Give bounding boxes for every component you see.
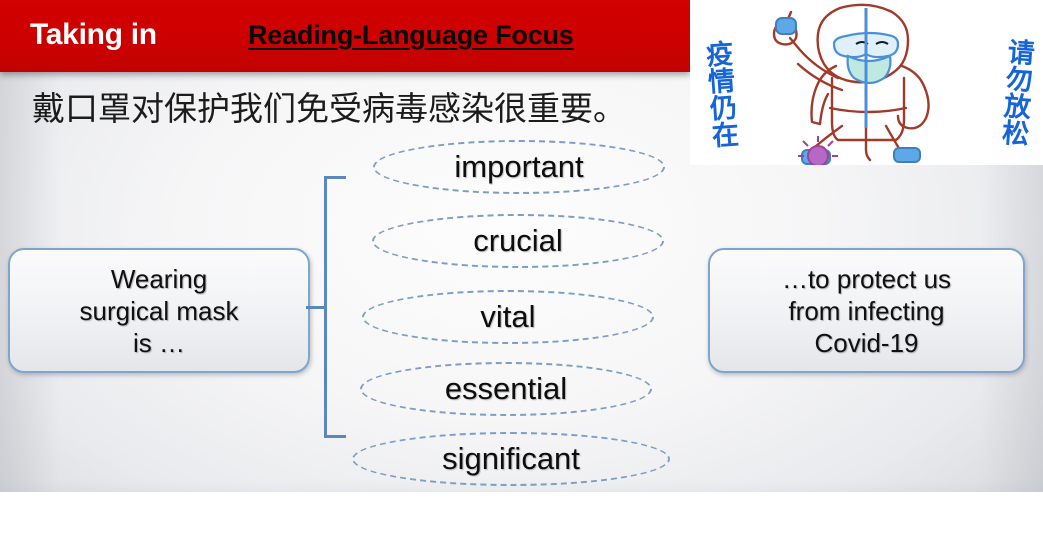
bracket-connector <box>318 176 344 438</box>
word-ellipse[interactable]: crucial <box>372 214 664 268</box>
word-ellipse-label: important <box>454 149 583 185</box>
word-ellipse-label: essential <box>445 371 567 407</box>
chinese-sentence: 戴口罩对保护我们免受病毒感染很重要。 <box>32 82 626 130</box>
word-ellipse[interactable]: vital <box>362 290 654 344</box>
bracket-vertical-line <box>324 176 327 438</box>
word-ellipse[interactable]: significant <box>352 432 670 486</box>
bracket-bottom-tick <box>324 435 346 438</box>
header-band: Taking in Reading-Language Focus <box>0 0 690 72</box>
right-box-line-1: …to protect us <box>782 263 951 295</box>
left-box-line-3: is … <box>80 327 239 359</box>
bracket-stem <box>306 306 324 309</box>
left-box-line-1: Wearing <box>80 263 239 295</box>
footer: Going Global <box>0 492 1043 550</box>
word-ellipse-label: significant <box>442 441 580 477</box>
ppe-worker-illustration: 疫情仍在 请勿放松 <box>690 0 1043 165</box>
ppe-worker-icon <box>690 0 1043 165</box>
slide-canvas: Taking in Reading-Language Focus 戴口罩对保护我… <box>0 0 1043 550</box>
word-ellipse-label: crucial <box>473 223 563 259</box>
word-ellipse-label: vital <box>480 299 535 335</box>
page-title: Taking in <box>30 18 157 52</box>
header-subtitle: Reading-Language Focus <box>248 20 574 51</box>
left-concept-box[interactable]: Wearing surgical mask is … <box>8 248 310 373</box>
word-ellipse[interactable]: essential <box>360 362 652 416</box>
left-box-line-2: surgical mask <box>80 295 239 327</box>
right-concept-box[interactable]: …to protect us from infecting Covid-19 <box>708 248 1025 373</box>
word-ellipse[interactable]: important <box>373 140 665 194</box>
right-box-line-3: Covid-19 <box>782 327 951 359</box>
bracket-top-tick <box>324 176 346 179</box>
right-box-line-2: from infecting <box>782 295 951 327</box>
